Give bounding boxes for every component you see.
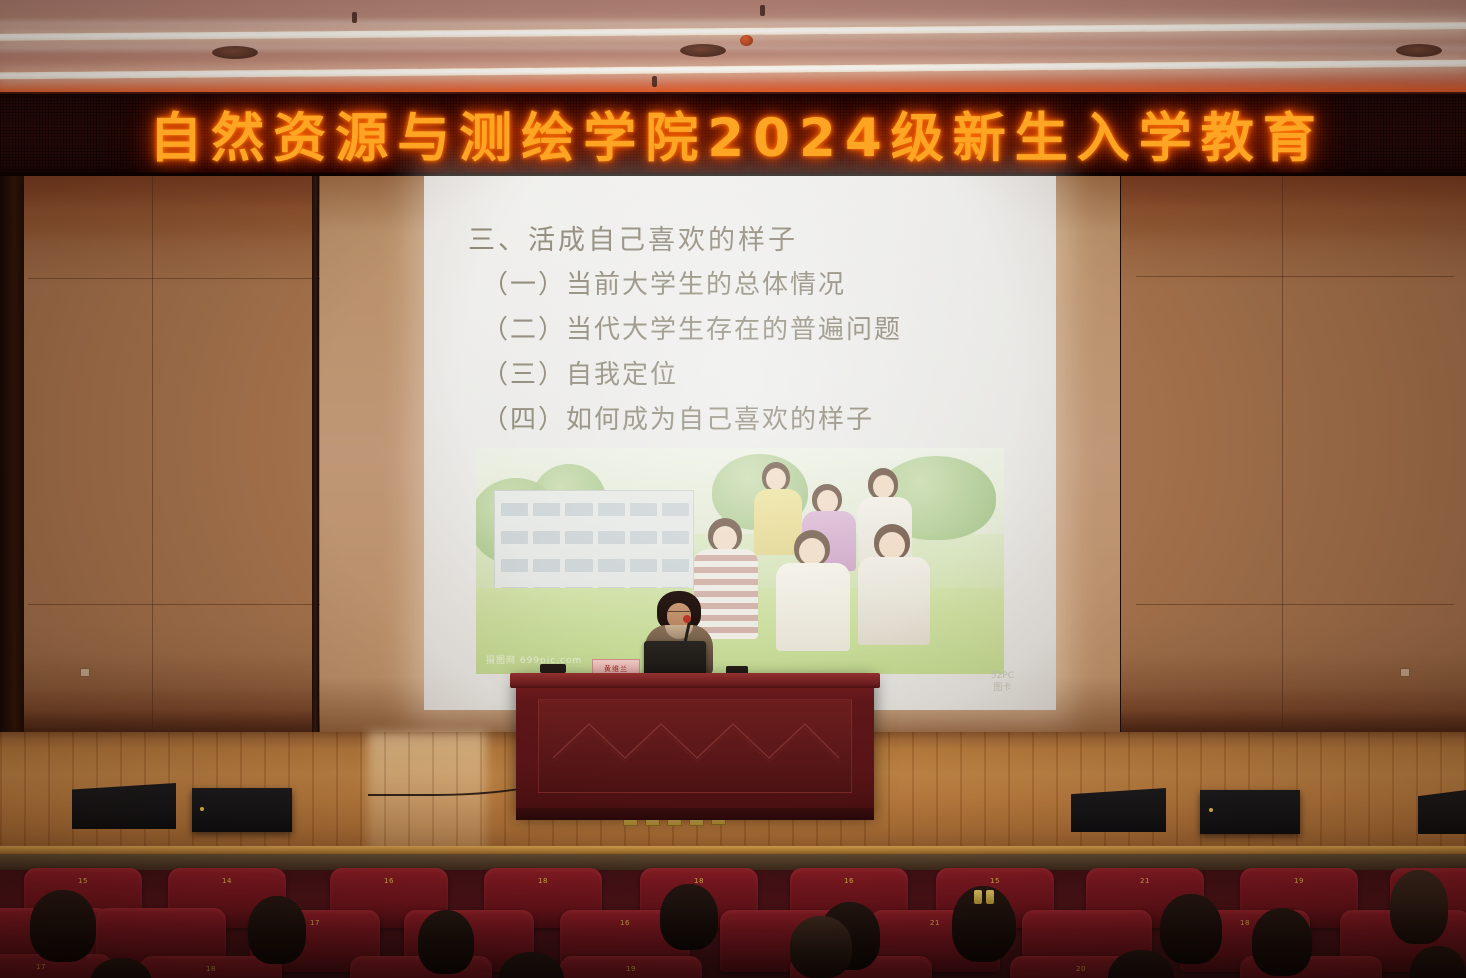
slide-title: 三、活成自己喜欢的样子 [468,218,798,257]
ceiling-light-strip-2 [0,60,1466,80]
seat-number: 21 [1140,877,1150,885]
sprinkler-icon [352,12,357,23]
podium-base-shadow [516,808,874,820]
speaker-led-icon [1209,808,1213,812]
panel-seam [28,604,320,605]
seat-number: 18 [206,965,216,973]
wall-outlet-icon [80,668,90,677]
seat-number: 16 [384,877,394,885]
seat-number: 19 [626,965,636,973]
panel-seam [1136,604,1454,605]
audience-head [952,886,1014,962]
seat-number: 17 [36,963,46,971]
projection-screen[interactable]: 三、活成自己喜欢的样子 （一）当前大学生的总体情况 （二）当代大学生存在的普遍问… [424,176,1056,710]
audience-head [1390,870,1448,944]
stage-speaker [192,788,292,832]
slide-content: 三、活成自己喜欢的样子 （一）当前大学生的总体情况 （二）当代大学生存在的普遍问… [424,176,1056,710]
panel-seam [1282,176,1283,732]
wall-edge-left [0,176,24,732]
ceiling-fixture-icon [212,46,258,59]
audience-seating: 15 14 16 18 18 16 15 21 19 12 17 16 21 1… [0,854,1466,978]
photo-window-row [501,559,689,572]
sprinkler-icon [760,5,765,16]
audience-head [248,896,306,964]
speaker-led-icon [200,807,204,811]
stage-speaker [72,783,176,829]
slide-corner-mark: 52PC 图卡 [991,670,1014,694]
photo-student [776,530,850,650]
slide-bullet-4: （四）如何成为自己喜欢的样子 [482,399,874,436]
wall-panel-left [0,176,320,732]
seat-number: 18 [1240,919,1250,927]
wall-panel-right [1120,176,1466,732]
seat-number: 15 [78,877,88,885]
led-scrolling-banner: 自然资源与测绘学院2024级新生入学教育 [0,92,1466,176]
corner-mark-line-2: 图卡 [991,682,1014,694]
audience-head [660,884,718,950]
ceiling-light-strip-1 [0,22,1466,41]
slide-bullet-1: （一）当前大学生的总体情况 [482,264,846,301]
wall-edge-screen-left [312,176,319,732]
desk-object [540,664,566,673]
seat-number: 20 [1076,965,1086,973]
ceiling-fixture-icon [1396,44,1442,57]
seat-number: 16 [844,877,854,885]
ceiling [0,0,1466,96]
podium-zigzag-ornament [553,718,839,762]
podium-top-surface [510,673,880,688]
podium-front-panel [538,699,852,793]
stage-speaker [1200,790,1300,834]
panel-seam [1136,276,1454,277]
hairclip-icon [986,890,994,904]
audience-head [418,910,474,974]
wall-outlet-icon [1400,668,1410,677]
seat-number: 18 [538,877,548,885]
slide-bullet-3: （三）自我定位 [482,354,678,391]
photo-window-row [501,531,689,544]
slide-bullet-2: （二）当代大学生存在的普遍问题 [482,309,902,346]
seat-number: 17 [310,919,320,927]
projection-screen-housing: 三、活成自己喜欢的样子 （一）当前大学生的总体情况 （二）当代大学生存在的普遍问… [320,176,1120,732]
slide-photo-students: 摄图网 699pic.com [476,448,1004,674]
photo-window-row [501,503,689,516]
audience-head [790,916,852,978]
sprinkler-icon [652,76,657,87]
photo-watermark: 摄图网 699pic.com [486,653,582,666]
auditorium-scene: 自然资源与测绘学院2024级新生入学教育 三、活成自己喜欢的样子 （一）当前大学… [0,0,1466,978]
podium-desk [516,673,874,813]
ceiling-fixture-icon [680,44,726,57]
seat-number: 15 [990,877,1000,885]
corner-mark-line-1: 52PC [991,670,1014,682]
panel-seam [152,176,153,732]
photo-student [858,524,930,644]
audience-head [1160,894,1222,964]
led-banner-text: 自然资源与测绘学院2024级新生入学教育 [149,96,1325,172]
audience-head [30,890,96,962]
panel-seam [28,278,320,279]
audience-head [1252,908,1312,976]
hairclip-icon [974,890,982,904]
seat-number: 14 [222,877,232,885]
microphone-icon [683,615,691,623]
stage-speaker [1418,790,1466,834]
seat-number: 16 [620,919,630,927]
seat[interactable]: 19 [560,956,702,978]
smoke-detector-icon [740,35,753,46]
seat-number: 21 [930,919,940,927]
stage-speaker [1071,788,1166,832]
seat-number: 19 [1294,877,1304,885]
